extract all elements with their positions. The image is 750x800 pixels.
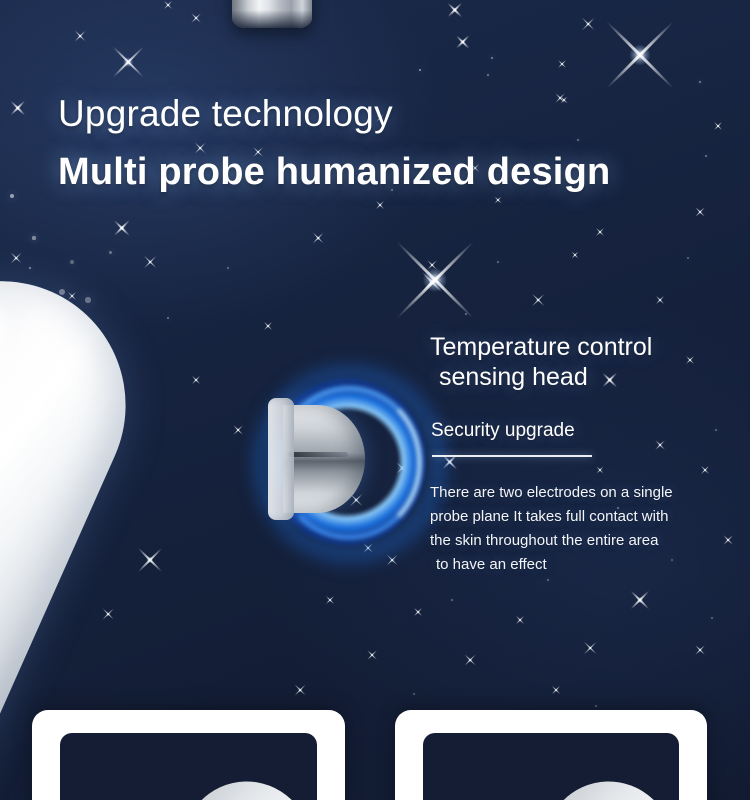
star-dot — [711, 617, 714, 620]
sparkle-core — [120, 226, 125, 231]
sparkle-core — [519, 619, 522, 622]
star-dot — [715, 429, 717, 431]
sparkle-core — [14, 256, 18, 260]
sparkle-core — [698, 648, 701, 651]
sparkle-core — [379, 204, 382, 207]
sparkle-core — [236, 428, 239, 431]
sparkle-core — [574, 254, 576, 256]
body-line: There are two electrodes on a single — [430, 481, 720, 505]
sparkle-core — [704, 469, 707, 472]
feature-body-copy: There are two electrodes on a single pro… — [430, 481, 720, 577]
sparkle-core — [726, 538, 729, 541]
probe-gloss-highlight — [0, 286, 20, 744]
sparkle-core — [123, 57, 133, 67]
sparkle-core — [71, 295, 74, 298]
sparkle-core — [194, 16, 197, 19]
sparkle-core — [659, 299, 662, 302]
star-dot — [547, 579, 550, 582]
sparkle-core — [629, 44, 650, 65]
sparkle-core — [167, 4, 170, 7]
star-dot — [32, 236, 35, 239]
sparkle-core — [146, 556, 153, 563]
eyebrow-heading: Upgrade technology — [58, 93, 393, 135]
star-dot — [465, 313, 468, 316]
page-title: Multi probe humanized design — [58, 151, 610, 194]
star-dot — [497, 261, 499, 263]
metal-cylinder-decoration — [232, 0, 312, 28]
sparkle-core — [298, 688, 302, 692]
sparkle-core — [558, 96, 561, 99]
star-dot — [491, 57, 493, 59]
star-dot — [595, 705, 598, 708]
sparkle-core — [390, 558, 394, 562]
sparkle-core — [417, 611, 420, 614]
star-dot — [413, 693, 415, 695]
sparkle-core — [329, 599, 332, 602]
star-dot — [59, 289, 66, 296]
probe-card-right[interactable] — [395, 710, 707, 800]
star-dot — [451, 599, 453, 601]
sparkle-core — [448, 460, 452, 464]
star-dot — [577, 139, 580, 142]
sparkle-core — [717, 125, 720, 128]
star-dot — [70, 260, 74, 264]
sparkle-core — [555, 689, 558, 692]
sparkle-core — [198, 146, 202, 150]
sparkle-core — [423, 268, 447, 292]
sparkle-core — [430, 263, 433, 266]
sparkle-core — [637, 597, 643, 603]
sparkle-core — [563, 99, 565, 101]
sensing-head-seam — [288, 452, 348, 457]
feature-heading-line-2: sensing head — [430, 362, 652, 392]
probe-card-left-image — [60, 733, 317, 800]
sparkle-core — [561, 63, 564, 66]
feature-heading-line-1: Temperature control — [430, 333, 652, 361]
star-dot — [699, 81, 701, 83]
star-dot — [10, 194, 14, 198]
sparkle-core — [195, 379, 198, 382]
sparkle-core — [497, 199, 499, 201]
star-dot — [419, 69, 422, 72]
star-dot — [29, 267, 32, 270]
body-line: the skin throughout the entire area — [430, 529, 720, 553]
sparkle-core — [429, 279, 435, 285]
star-dot — [705, 155, 708, 158]
star-dot — [687, 257, 690, 260]
sparkle-core — [316, 236, 320, 240]
probe-card-left[interactable] — [32, 710, 345, 800]
body-line: to have an effect — [430, 553, 720, 577]
sparkle-core — [267, 325, 270, 328]
sparkle-core — [78, 34, 82, 38]
sparkle-core — [689, 359, 692, 362]
star-dot — [227, 267, 229, 269]
sparkle-core — [468, 658, 472, 662]
sparkle-core — [698, 210, 701, 213]
sparkle-core — [370, 653, 373, 656]
sparkle-core — [599, 231, 602, 234]
star-dot — [85, 297, 90, 302]
feature-subheading: Security upgrade — [431, 420, 575, 442]
sparkle-core — [588, 646, 592, 650]
sparkle-core — [536, 298, 540, 302]
feature-heading: Temperature control sensing head — [430, 332, 652, 392]
sparkle-core — [148, 260, 152, 264]
star-dot — [109, 251, 112, 254]
star-dot — [167, 317, 170, 320]
divider-rule — [432, 455, 592, 457]
probe-thumbnail-shape — [461, 757, 679, 800]
body-line: probe plane It takes full contact with — [430, 505, 720, 529]
star-dot — [487, 74, 489, 76]
product-feature-banner: Upgrade technology Multi probe humanized… — [0, 0, 750, 800]
probe-thumbnail-shape — [99, 757, 317, 800]
sparkle-core — [16, 106, 20, 110]
probe-collar — [268, 398, 294, 520]
probe-card-right-image — [423, 733, 679, 800]
sparkle-core — [658, 443, 661, 446]
sparkle-core — [586, 22, 590, 26]
sparkle-core — [106, 612, 110, 616]
sparkle-core — [461, 40, 465, 44]
sparkle-core — [453, 8, 457, 12]
sparkle-core — [599, 469, 601, 471]
